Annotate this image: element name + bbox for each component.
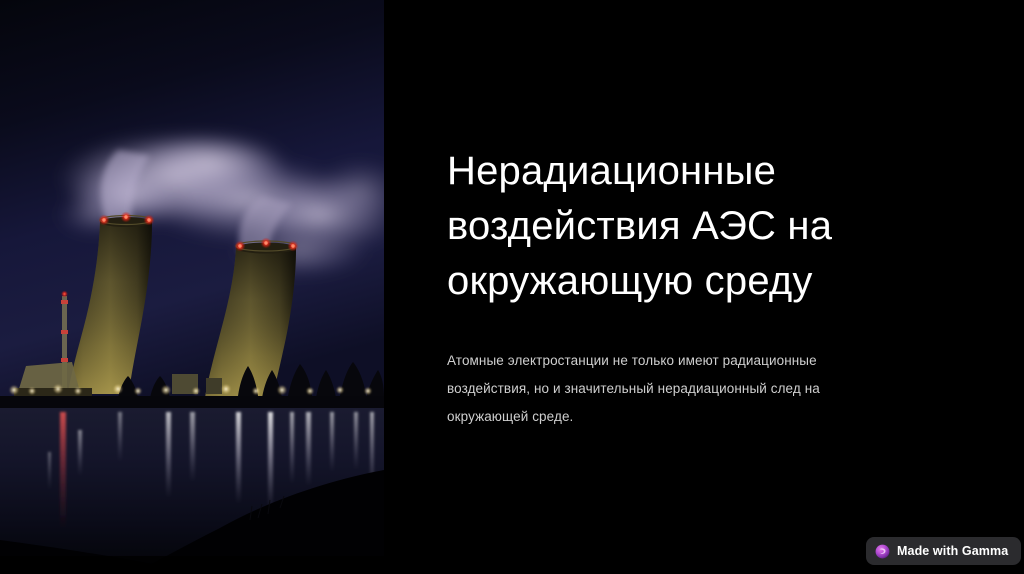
made-with-gamma-badge[interactable]: Made with Gamma [866, 537, 1021, 565]
slide-title: Нерадиационные воздействия АЭС на окружа… [447, 144, 884, 309]
slide-content-panel: Нерадиационные воздействия АЭС на окружа… [384, 0, 1024, 574]
slide-body-text: Атомные электростанции не только имеют р… [447, 347, 883, 431]
gamma-logo-icon [875, 544, 890, 559]
nuclear-plant-night-photo [0, 0, 384, 574]
reactor-building [18, 362, 80, 392]
slide-image-panel [0, 0, 384, 574]
presentation-slide: Нерадиационные воздействия АЭС на окружа… [0, 0, 1024, 574]
bottom-shade [0, 556, 384, 574]
aux-building-2 [206, 378, 222, 394]
made-with-gamma-label: Made with Gamma [897, 544, 1008, 558]
far-bank [0, 396, 384, 410]
red-light-reflection [60, 412, 66, 530]
